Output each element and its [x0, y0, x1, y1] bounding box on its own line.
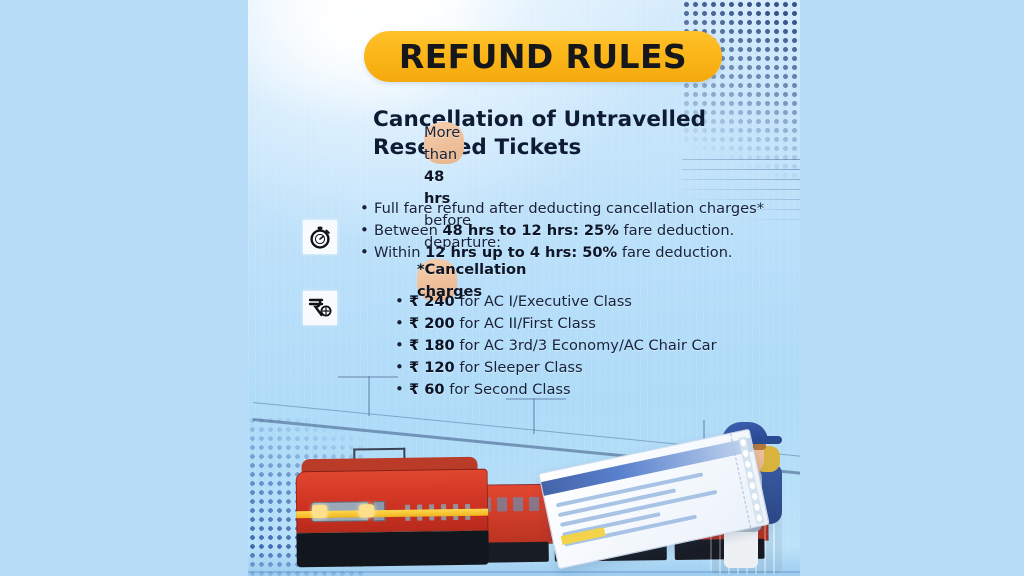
charge-amount: ₹ 240 — [409, 293, 455, 310]
list-item: ₹ 240 for AC I/Executive Class — [393, 291, 793, 313]
headlight — [359, 504, 374, 517]
rupee-icon — [303, 291, 337, 325]
locomotive — [295, 447, 488, 554]
refund-rules-poster: REFUND RULES Cancellation of Untravelled… — [248, 0, 800, 576]
time-rules-heading: More than 48 hrs before departure: — [424, 122, 464, 164]
time-rules-block: More than 48 hrs before departure: Full … — [358, 198, 788, 264]
coach-window — [529, 497, 539, 511]
coach-window — [497, 497, 507, 511]
catenary-mast — [368, 376, 370, 416]
charge-label: for AC I/Executive Class — [459, 293, 632, 310]
locomotive-body — [296, 469, 489, 534]
charge-amount: ₹ 200 — [409, 315, 455, 332]
coach-window — [513, 497, 523, 511]
stopwatch-icon — [303, 220, 337, 254]
page-title: REFUND RULES — [399, 37, 687, 76]
locomotive-headlights — [312, 504, 374, 518]
list-item: Between 48 hrs to 12 hrs: 25% fare deduc… — [358, 220, 788, 242]
letterbox-bar-right — [800, 0, 1024, 576]
list-item: ₹ 200 for AC II/First Class — [393, 313, 793, 335]
catenary-bracket — [506, 398, 566, 400]
cap-brim — [758, 436, 782, 444]
locomotive-underframe — [296, 531, 488, 568]
traveller-character — [666, 390, 798, 576]
poster-artwork — [248, 346, 800, 576]
time-rules-list: Full fare refund after deducting cancell… — [358, 198, 788, 264]
headlight — [312, 505, 327, 518]
letterbox-bar-left — [0, 0, 248, 576]
title-banner: REFUND RULES — [364, 31, 722, 82]
list-item: Full fare refund after deducting cancell… — [358, 198, 788, 220]
charge-label: for AC II/First Class — [459, 315, 596, 332]
screenshot-canvas: REFUND RULES Cancellation of Untravelled… — [0, 0, 1024, 576]
